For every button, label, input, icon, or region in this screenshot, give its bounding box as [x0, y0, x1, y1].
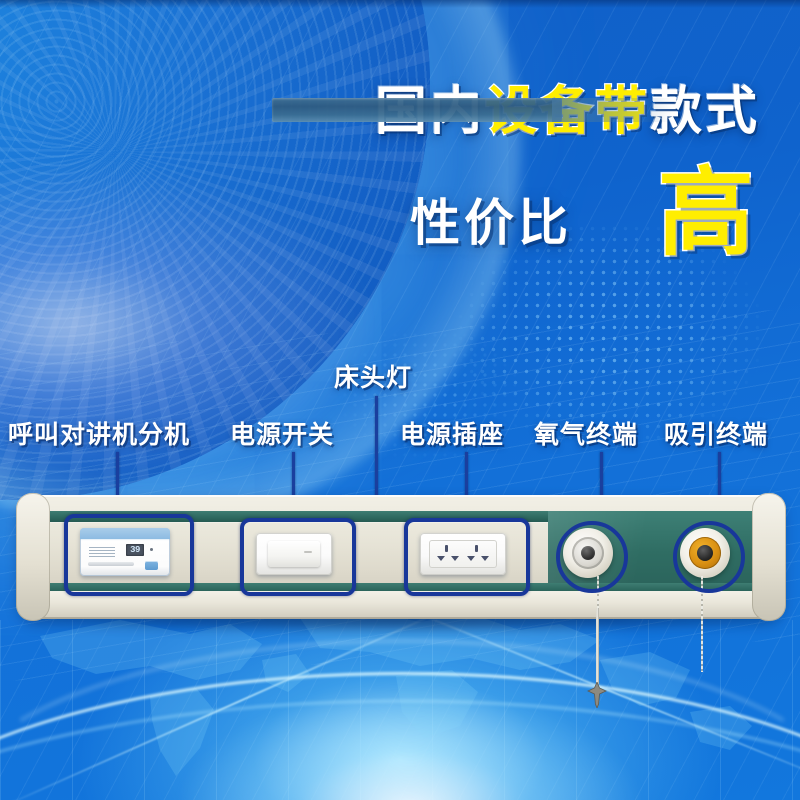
promo-banner: 国内设备带款式 性价比 高 呼叫对讲机分机 电源开关 床头灯 电源插座 氧气终端…: [0, 0, 800, 800]
highlight-suction: [673, 521, 745, 593]
bottom-glow: [180, 690, 640, 800]
callout-label-suction: 吸引终端: [664, 415, 768, 451]
pull-cord-handle-icon[interactable]: [586, 682, 608, 708]
callout-label-oxygen: 氧气终端: [534, 415, 638, 451]
headline-subtitle: 性价比: [410, 183, 572, 255]
rail-reflection: [272, 98, 562, 122]
highlight-socket: [404, 518, 530, 596]
callout-label-bedlamp: 床头灯: [334, 358, 412, 394]
pull-cord[interactable]: [596, 608, 599, 684]
highlight-oxygen: [556, 521, 628, 593]
callout-label-switch: 电源开关: [230, 415, 334, 451]
headline-emphasis: 高: [658, 168, 754, 259]
panel-end-cap-left: [16, 493, 50, 621]
callout-label-socket: 电源插座: [400, 415, 504, 451]
highlight-switch: [240, 518, 356, 596]
headline-line-2: 性价比 高: [0, 168, 800, 261]
panel-end-cap-right: [752, 493, 786, 621]
rail-reflection-2: [552, 98, 672, 122]
halftone-dot-globe-2: [300, 300, 560, 490]
headline-block: 国内设备带款式 性价比 高: [0, 0, 800, 260]
callout-label-intercom: 呼叫对讲机分机: [8, 415, 190, 451]
highlight-intercom: [64, 514, 194, 596]
